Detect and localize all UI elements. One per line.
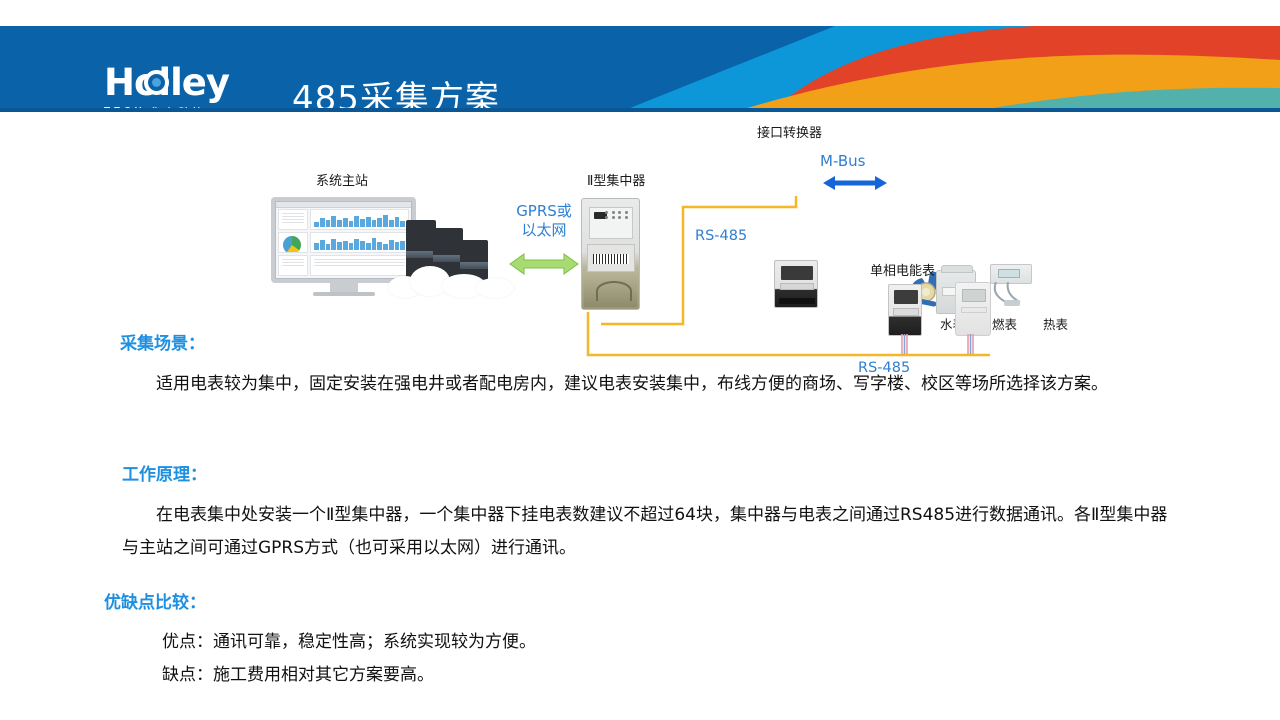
single-phase-meter-device (955, 282, 991, 336)
monitor-neck (330, 283, 358, 292)
gprs-double-arrow-icon (508, 251, 580, 277)
gprs-link-line1: GPRS或 (508, 202, 580, 221)
heat-meter-probes-icon (986, 282, 1036, 314)
meter-drop-wires (888, 334, 1008, 356)
dashboard-card (278, 255, 308, 276)
section-heading-scenario: 采集场景： (120, 329, 205, 354)
page-title: 485采集方案 (292, 71, 500, 112)
card-lines (282, 259, 304, 268)
meter-label-strip (961, 307, 987, 313)
rs485-upper-label: RS-485 (695, 228, 747, 244)
meter-label-strip (893, 308, 919, 316)
dashboard-topbar (276, 202, 411, 208)
monitor-base (313, 292, 375, 296)
cloud-graphic (388, 260, 518, 300)
interface-converter (774, 260, 818, 308)
cloud-puff (476, 278, 514, 298)
logo-ring-icon (144, 70, 169, 95)
dashboard-card (310, 209, 409, 230)
converter-display (781, 266, 813, 280)
heat-meter-device (986, 264, 1036, 314)
header-decorative-swoosh (620, 26, 1280, 112)
dashboard-card (278, 232, 308, 253)
single-phase-meter-label: 单相电能表 (870, 260, 935, 279)
meter-display (894, 290, 918, 304)
apple-logo-icon (340, 269, 347, 276)
converter-terminals (779, 298, 815, 304)
section-heading-principle: 工作原理： (122, 460, 207, 485)
master-station-label: 系统主站 (316, 170, 368, 189)
mbus-double-arrow-icon (822, 174, 888, 192)
mbus-label: M-Bus (820, 152, 865, 170)
single-phase-meter-device (888, 284, 922, 336)
section-heading-proscons: 优缺点比较： (104, 588, 206, 613)
heat-meter-label: 热表 (1043, 314, 1068, 333)
bar-chart (314, 214, 405, 227)
bar-chart (314, 237, 405, 250)
dashboard-card (278, 209, 308, 230)
gprs-link-label: GPRS或 以太网 (508, 202, 580, 240)
heat-meter-display (998, 269, 1020, 278)
concentrator-terminal-block (584, 275, 637, 307)
gas-meter-label: 燃表 (992, 314, 1017, 333)
holley-logo: Holley TECH 华立科技 (104, 64, 254, 112)
converter-label: 接口转换器 (757, 122, 822, 141)
pie-chart (283, 236, 301, 253)
section-paragraph-principle: 在电表集中处安装一个Ⅱ型集中器，一个集中器下挂电表数建议不超过64块，集中器与电… (122, 499, 1184, 565)
logo-wordmark: Holley (104, 64, 254, 101)
barcode-icon (593, 254, 629, 264)
type-ii-concentrator (581, 198, 640, 310)
card-lines (282, 213, 304, 225)
concentrator-top-panel (589, 207, 633, 239)
pros-text: 优点：通讯可靠，稳定性高；系统实现较为方便。 (162, 626, 1062, 659)
dashboard-card (310, 232, 409, 253)
cons-text: 缺点：施工费用相对其它方案要高。 (162, 659, 1062, 692)
heat-meter-body (990, 264, 1032, 284)
gprs-link-line2: 以太网 (508, 221, 580, 240)
concentrator-indicator-leds (605, 211, 629, 219)
concentrator-label-panel (587, 244, 635, 272)
meter-display (962, 289, 986, 302)
gas-meter-top (941, 265, 973, 273)
concentrator-label: Ⅱ型集中器 (587, 170, 645, 189)
section-paragraph-scenario: 适用电表较为集中，固定安装在强电井或者配电房内，建议电表安装集中，布线方便的商场… (122, 368, 1182, 401)
converter-label-strip (780, 283, 814, 290)
page-header: Holley TECH 华立科技 485采集方案 (0, 26, 1280, 112)
